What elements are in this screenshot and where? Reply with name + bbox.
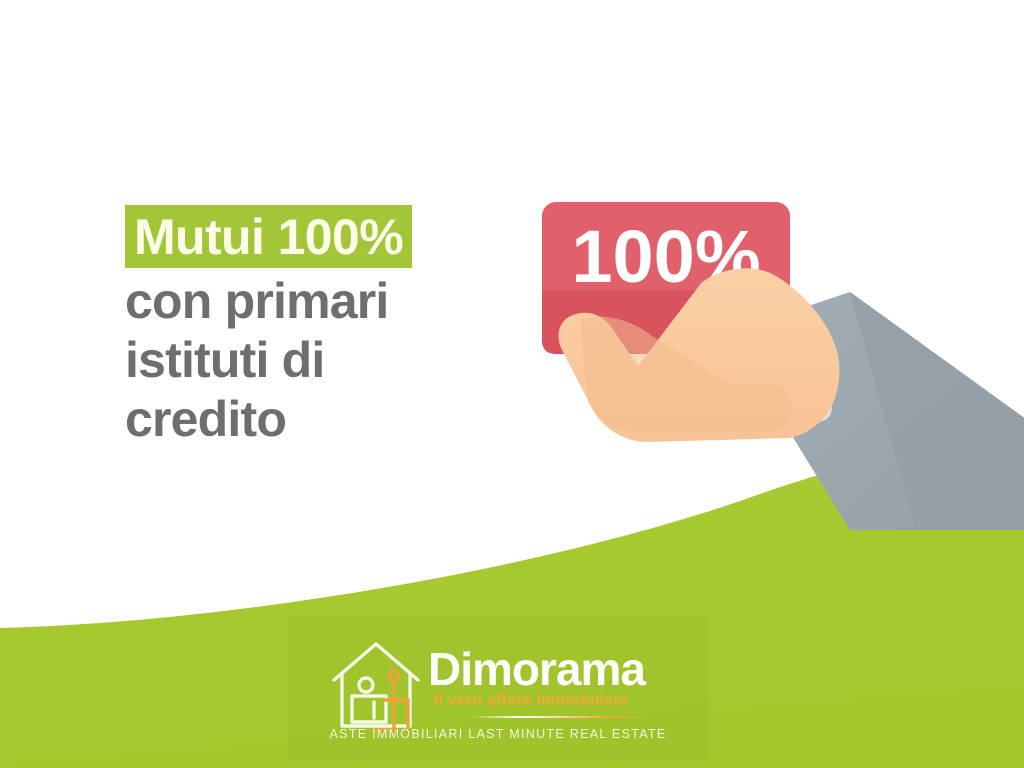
banner-canvas: Mutui 100% con primari istituti di credi… xyxy=(0,0,1024,768)
hand-holding-card-illustration: 100% xyxy=(520,170,1024,540)
logo-underline-rule xyxy=(470,716,646,718)
logo-strapline: ASTE IMMOBILIARI LAST MINUTE REAL ESTATE xyxy=(288,726,708,742)
headline-line-2: con primari xyxy=(125,275,555,327)
logo-wordmark: Dimorama xyxy=(428,644,645,694)
headline-block: Mutui 100% con primari istituti di credi… xyxy=(125,205,555,445)
headline-line-1: Mutui 100% xyxy=(125,205,412,268)
headline-highlight-wrap: Mutui 100% xyxy=(125,205,555,268)
headline-line-3: istituti di xyxy=(125,334,555,386)
illustration-svg: 100% xyxy=(520,170,1024,540)
dimorama-logo[interactable]: Dimorama Il vero affare immobiliare ASTE… xyxy=(288,616,708,760)
headline-line-4: credito xyxy=(125,393,555,445)
logo-text-lockup: Dimorama Il vero affare immobiliare xyxy=(428,644,698,716)
logo-tagline: Il vero affare immobiliare xyxy=(434,692,629,710)
house-outline-icon xyxy=(328,638,424,734)
